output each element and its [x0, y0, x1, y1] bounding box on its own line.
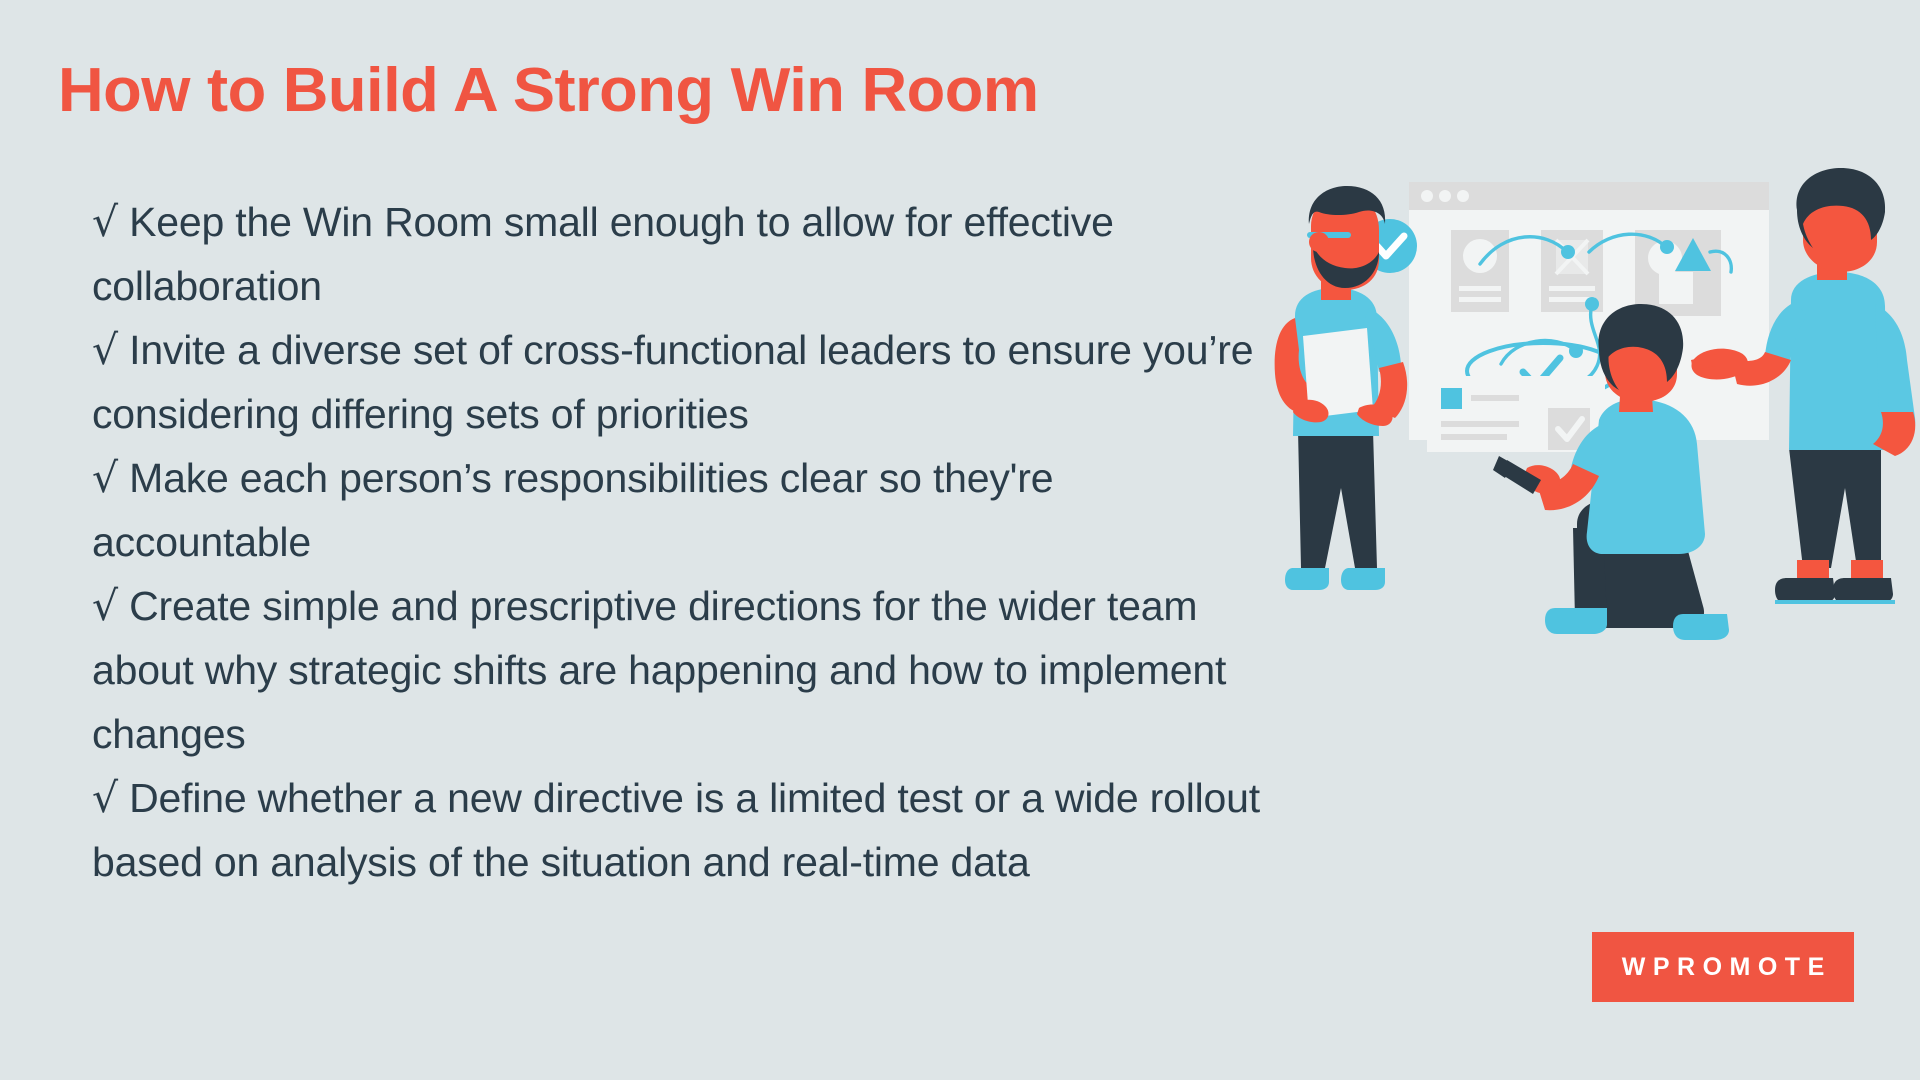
team-collaboration-illustration	[1255, 168, 1920, 688]
list-card-with-checkbox	[1427, 376, 1605, 452]
wpromote-wordmark: WPROMOTE	[1614, 953, 1832, 982]
check-icon: √	[92, 774, 118, 822]
page-title: How to Build A Strong Win Room	[58, 58, 1039, 123]
card-pie-chart	[1451, 230, 1509, 312]
card-shapes	[1635, 230, 1721, 316]
check-icon: √	[92, 326, 118, 374]
check-icon: √	[92, 582, 118, 630]
checklist: √ Keep the Win Room small enough to allo…	[92, 190, 1282, 894]
poster-canvas: How to Build A Strong Win Room √ Keep th…	[0, 0, 1920, 1080]
check-icon: √	[92, 454, 118, 502]
list-item-text: Create simple and prescriptive direction…	[92, 583, 1226, 757]
list-item-text: Invite a diverse set of cross-functional…	[92, 327, 1253, 437]
list-item-text: Keep the Win Room small enough to allow …	[92, 199, 1114, 309]
wpromote-logo[interactable]: WPROMOTE	[1592, 932, 1854, 1002]
list-item-text: Make each person’s responsibilities clea…	[92, 455, 1053, 565]
list-item: √ Invite a diverse set of cross-function…	[92, 318, 1282, 446]
list-item: √ Make each person’s responsibilities cl…	[92, 446, 1282, 574]
check-icon: √	[92, 198, 118, 246]
list-item: √ Create simple and prescriptive directi…	[92, 574, 1282, 766]
list-item: √ Keep the Win Room small enough to allo…	[92, 190, 1282, 318]
list-item: √ Define whether a new directive is a li…	[92, 766, 1282, 894]
list-item-text: Define whether a new directive is a limi…	[92, 775, 1260, 885]
